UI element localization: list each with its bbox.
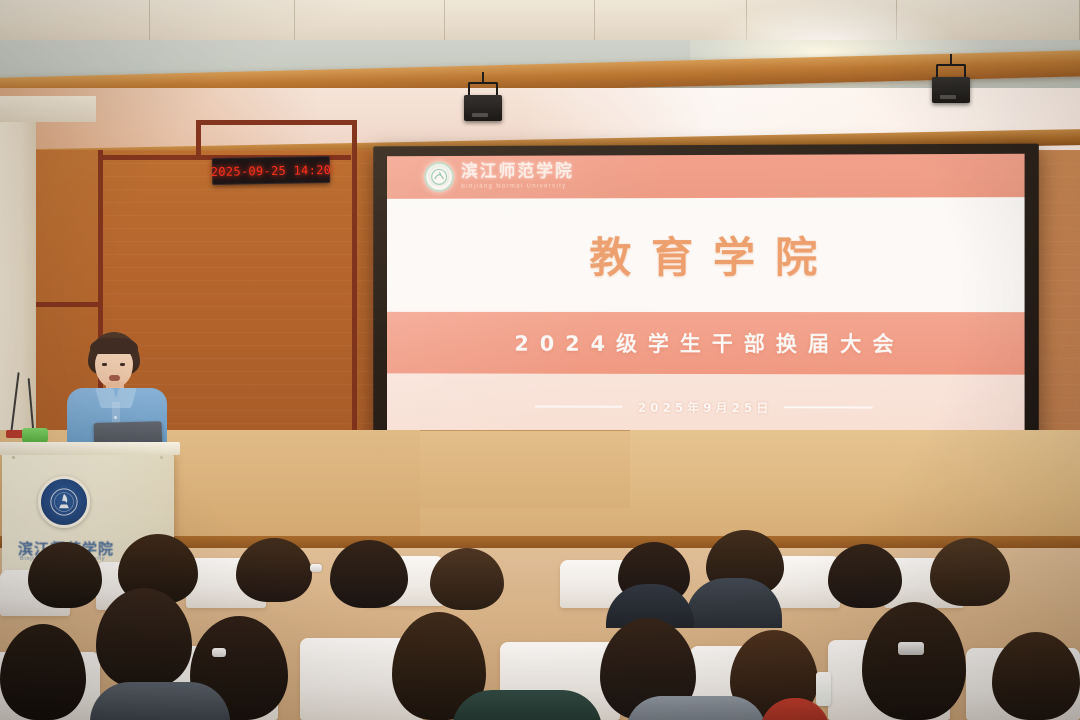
presentation-slide: 滨江师范学院 Binjiang Normal University 教育学院 2… <box>387 154 1025 442</box>
led-clock-text: 2025-09-25 14:20 <box>211 162 332 178</box>
slide-title-area: 教育学院 <box>387 197 1025 312</box>
lecture-hall-photo: 2025-09-25 14:20 <box>0 0 1080 720</box>
hair-clip <box>310 564 322 572</box>
audience-shoulders <box>90 682 230 720</box>
audience-shoulders <box>452 690 602 720</box>
slide-subtitle-band: 2024级学生干部换届大会 <box>387 312 1025 375</box>
slide-header-band: 滨江师范学院 Binjiang Normal University <box>387 154 1025 199</box>
led-clock: 2025-09-25 14:20 <box>212 156 330 185</box>
date-rule-left <box>535 406 622 408</box>
audience-head <box>828 544 902 608</box>
audience-shoulders <box>626 696 766 720</box>
wall-pilaster-cap <box>0 96 96 122</box>
wall-trim-upper-horizontal <box>196 120 356 125</box>
wall-trim-upper-vertical <box>196 120 201 158</box>
audience-head <box>992 632 1080 720</box>
slide-university-name-en: Binjiang Normal University <box>461 184 574 190</box>
audience <box>0 520 1080 720</box>
audience-head <box>862 602 966 720</box>
university-seal-icon <box>425 162 455 192</box>
slide-date: 2025年9月25日 <box>634 399 772 416</box>
date-rule-right <box>784 407 873 409</box>
projection-screen: 滨江师范学院 Binjiang Normal University 教育学院 2… <box>387 154 1025 442</box>
audience-head <box>0 624 86 720</box>
hair-clip <box>898 642 924 655</box>
slide-university-name-cn: 滨江师范学院 <box>461 164 574 181</box>
wall-trim-right-vertical <box>352 120 357 450</box>
audience-head <box>236 538 312 602</box>
audience-head <box>28 542 102 608</box>
audience-head <box>430 548 504 610</box>
wall-trim-horizontal <box>36 302 103 307</box>
slide-subtitle: 2024级学生干部换届大会 <box>504 328 905 359</box>
audience-head <box>330 540 408 608</box>
audience-head <box>930 538 1010 606</box>
hair-clip <box>212 648 226 657</box>
water-bottle <box>816 672 831 706</box>
projection-screen-frame: 滨江师范学院 Binjiang Normal University 教育学院 2… <box>373 144 1039 452</box>
audience-head <box>96 588 192 688</box>
slide-date-row: 2025年9月25日 <box>535 398 873 416</box>
university-logo-lockup: 滨江师范学院 Binjiang Normal University <box>425 162 574 192</box>
slide-title: 教育学院 <box>570 224 838 285</box>
